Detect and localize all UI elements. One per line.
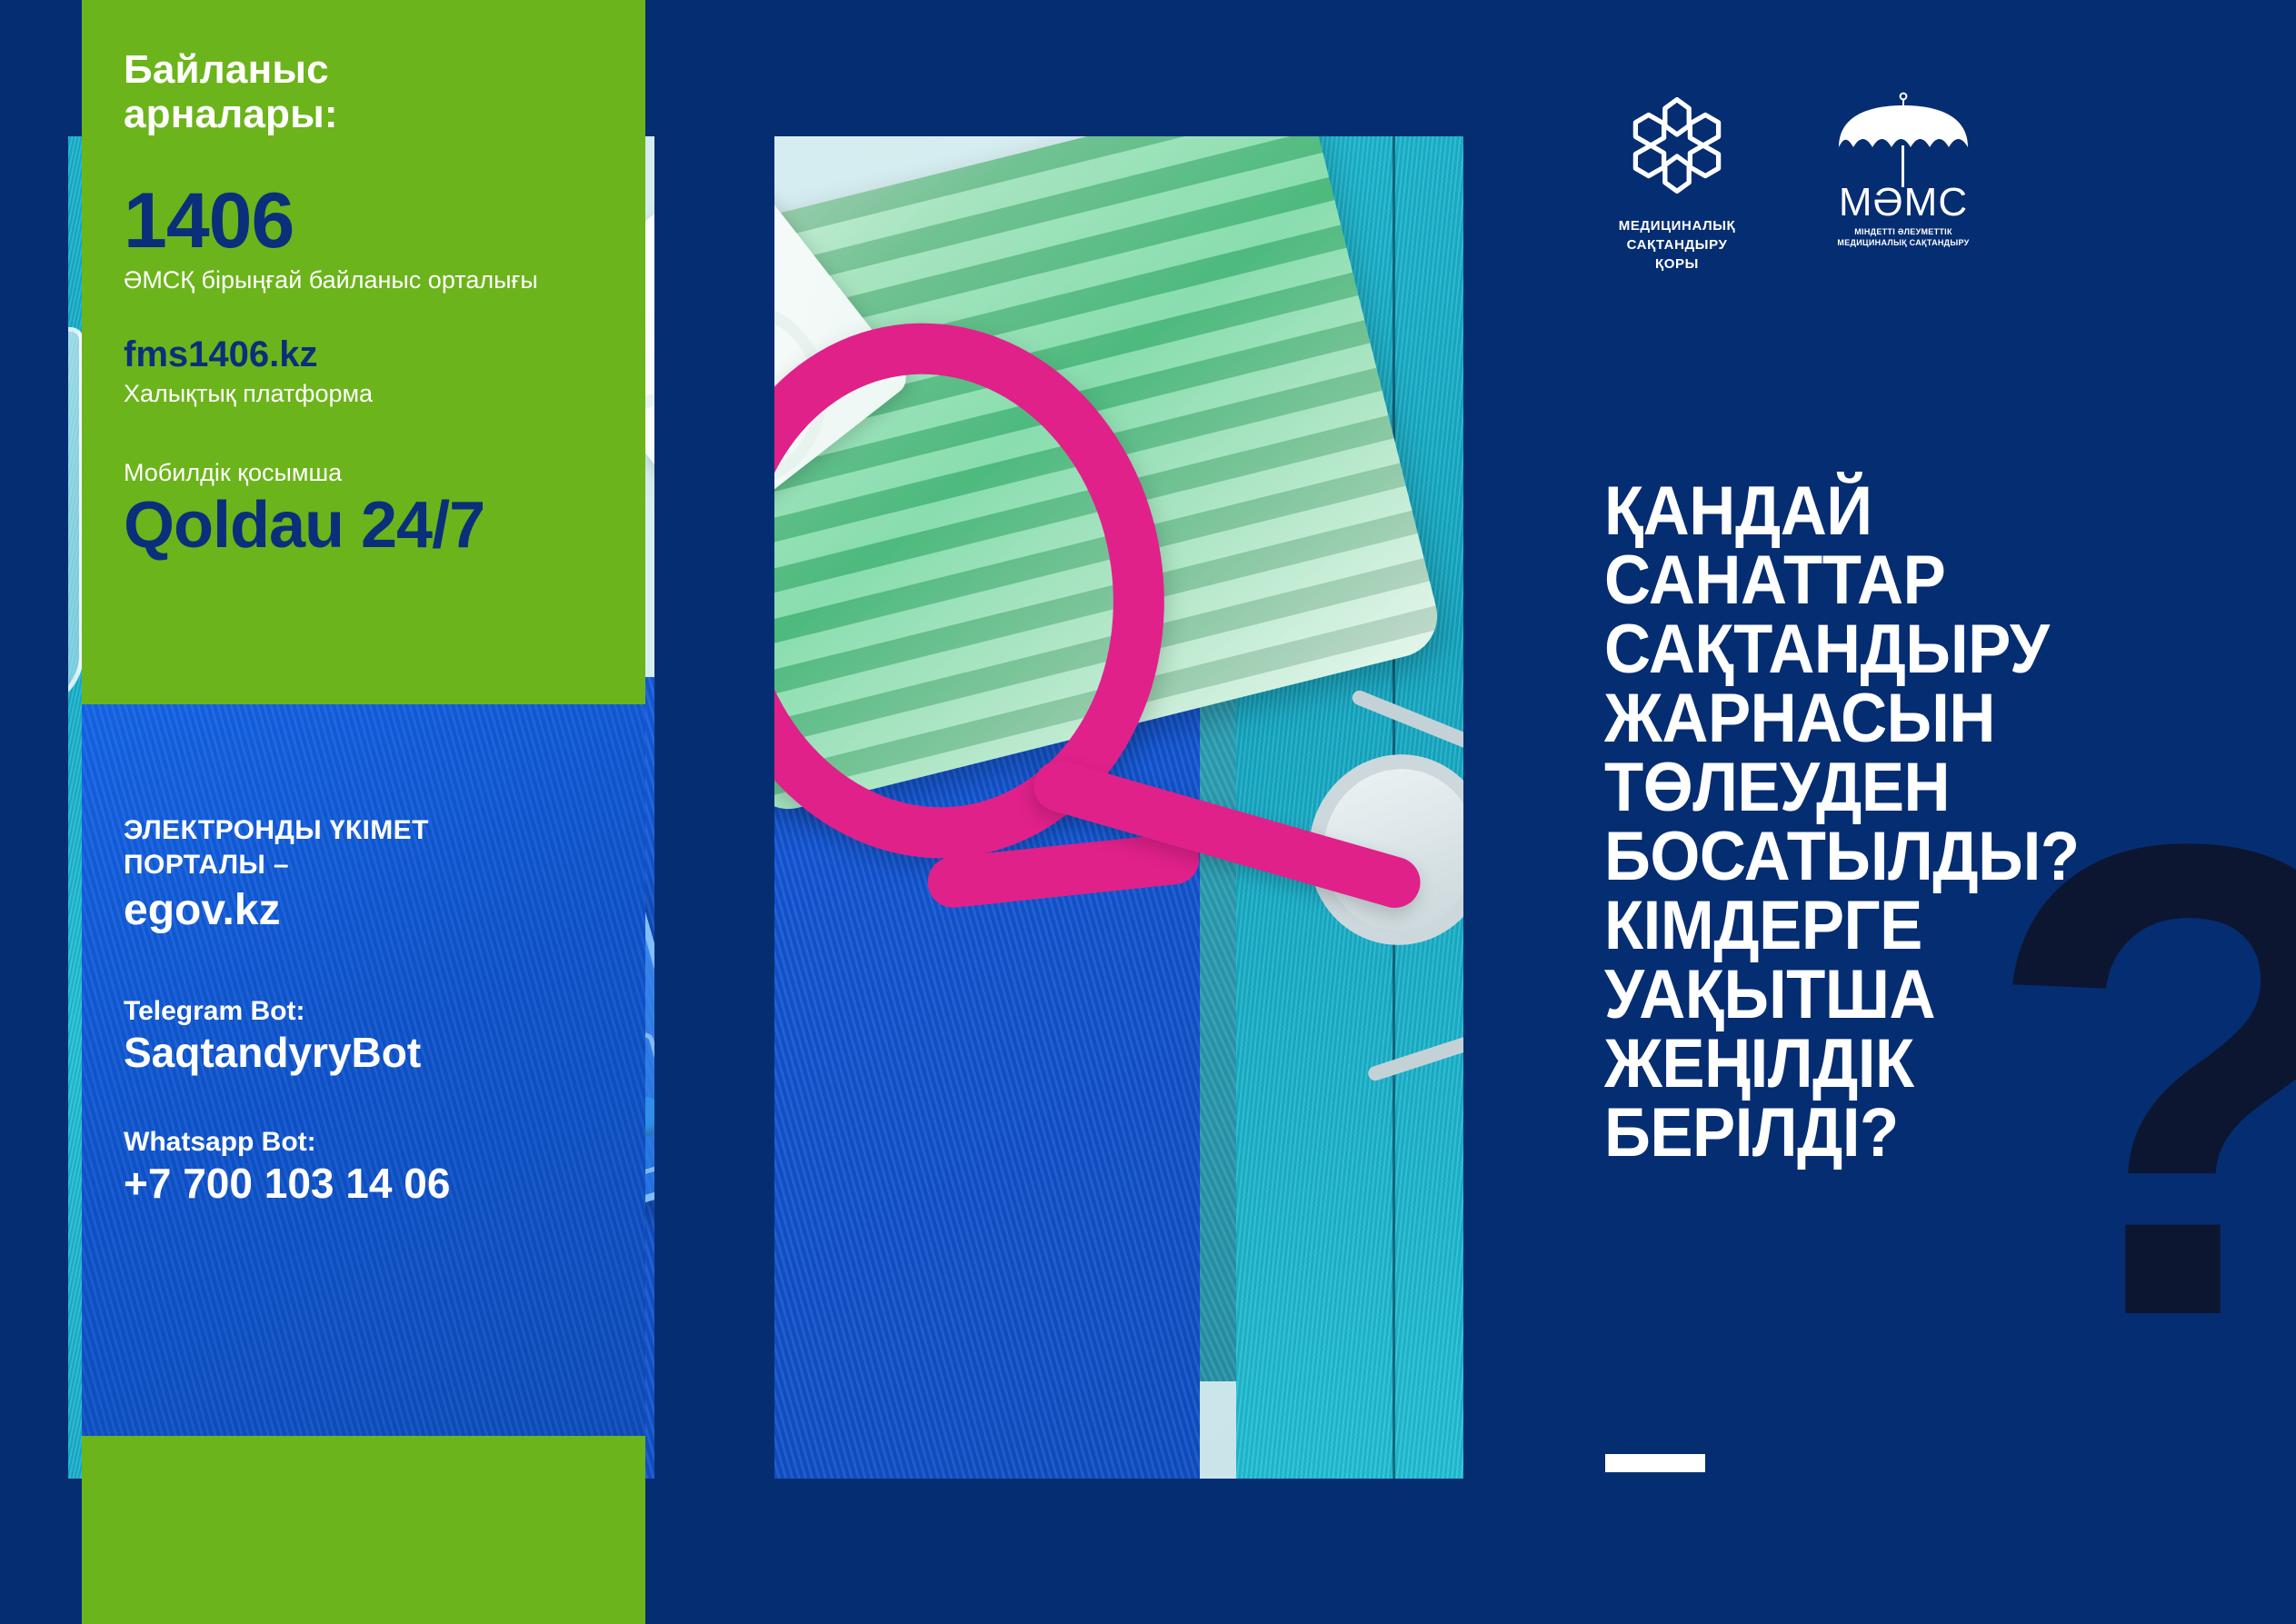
platform-url[interactable]: fms1406.kz	[124, 336, 645, 373]
digital-channels-card: ЭЛЕКТРОНДЫ ҮКІМЕТ ПОРТАЛЫ – egov.kz Tele…	[82, 704, 645, 1436]
egov-portal-url[interactable]: egov.kz	[124, 889, 645, 932]
fund-logo-caption: МЕДИЦИНАЛЫҚ САҚТАНДЫРУ ҚОРЫ	[1600, 216, 1754, 274]
msms-wordmark: МӘМС	[1822, 183, 1985, 223]
hotline-number[interactable]: 1406	[124, 184, 645, 259]
whatsapp-bot-number[interactable]: +7 700 103 14 06	[124, 1161, 645, 1205]
green-bottom-bar	[82, 1436, 645, 1624]
telegram-bot-handle[interactable]: SaqtandyryBot	[124, 1031, 645, 1074]
platform-description: Халықтық платформа	[124, 380, 645, 408]
msms-logo: МӘМС МІНДЕТТІ ӘЛЕУМЕТТІК МЕДИЦИНАЛЫҚ САҚ…	[1822, 91, 1985, 248]
logo-row: МЕДИЦИНАЛЫҚ САҚТАНДЫРУ ҚОРЫ МӘМС МІНДЕТТ…	[1600, 91, 1985, 274]
telegram-bot-label: Telegram Bot:	[124, 996, 645, 1027]
poster-canvas: Байланыс арналары: 1406 ӘМСҚ бірыңғай ба…	[0, 0, 2296, 1624]
mobile-app-label: Мобилдік қосымша	[124, 459, 645, 487]
fund-logo: МЕДИЦИНАЛЫҚ САҚТАНДЫРУ ҚОРЫ	[1600, 91, 1754, 274]
left-navy-strip	[0, 0, 68, 1624]
vertical-navy-divider	[1463, 0, 1547, 1624]
umbrella-icon	[1835, 91, 1972, 186]
headline-text: ҚАНДАЙ САНАТТАР САҚТАНДЫРУ ЖАРНАСЫН ТӨЛЕ…	[1604, 477, 2221, 1168]
egov-portal-label: ЭЛЕКТРОНДЫ ҮКІМЕТ ПОРТАЛЫ –	[124, 813, 645, 882]
mobile-app-name[interactable]: Qoldau 24/7	[124, 493, 645, 558]
msms-fine-print: МІНДЕТТІ ӘЛЕУМЕТТІК МЕДИЦИНАЛЫҚ САҚТАНДЫ…	[1822, 226, 1985, 248]
contact-card: Байланыс арналары: 1406 ӘМСҚ бірыңғай ба…	[82, 0, 645, 704]
lower-navy-block	[768, 1490, 1459, 1624]
decorative-dash	[1605, 1454, 1705, 1472]
vertical-navy-divider	[654, 0, 774, 1624]
contact-card-title: Байланыс арналары:	[124, 47, 645, 137]
whatsapp-bot-label: Whatsapp Bot:	[124, 1127, 645, 1158]
hotline-description: ӘМСҚ бірыңғай байланыс орталығы	[124, 265, 645, 296]
snowflake-rosette-icon	[1622, 91, 1732, 200]
